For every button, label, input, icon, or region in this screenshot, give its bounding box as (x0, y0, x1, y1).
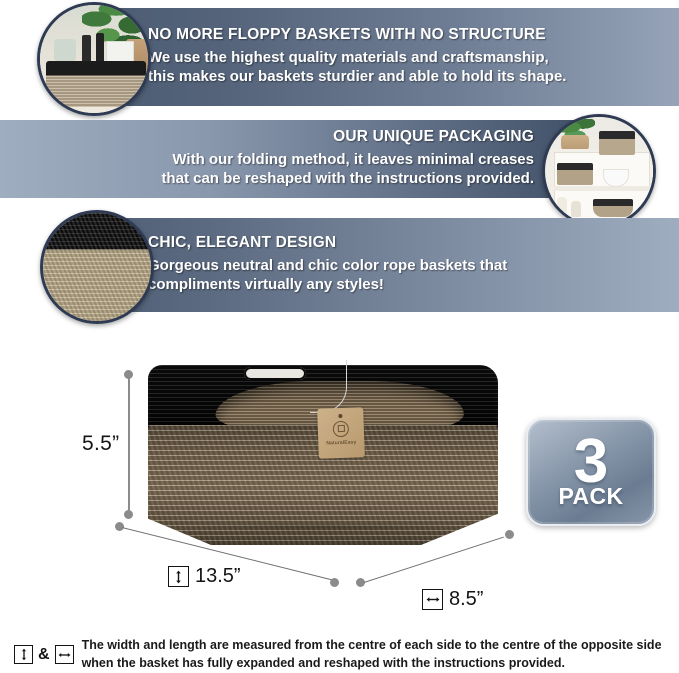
banner-body-line-2: this makes our baskets sturdier and able… (148, 68, 669, 87)
hang-tag: NaturalEasy (317, 407, 365, 459)
basket-ground-shadow (148, 525, 498, 547)
banner-title: OUR UNIQUE PACKAGING (333, 128, 534, 146)
height-guide-line (128, 376, 130, 514)
width-guide-dot-end (505, 530, 514, 539)
banner-body: With our folding method, it leaves minim… (161, 151, 534, 189)
length-dimension-chip: 13.5” (168, 565, 241, 588)
disclaimer-text: The width and length are measured from t… (82, 637, 662, 672)
disclaimer-icon-group: & (14, 645, 74, 664)
banner-body: We use the highest quality materials and… (148, 49, 669, 87)
feature-banner-no-structure: NO MORE FLOPPY BASKETS WITH NO STRUCTURE… (88, 8, 679, 106)
vase-shape-a (557, 197, 567, 217)
hang-tag-hole (338, 414, 342, 418)
banner-title: NO MORE FLOPPY BASKETS WITH NO STRUCTURE (148, 26, 669, 44)
vertical-arrow-icon (168, 566, 189, 587)
banner-body-line-2: that can be reshaped with the instructio… (161, 170, 534, 189)
feature-banner-chic-design: CHIC, ELEGANT DESIGN Gorgeous neutral an… (88, 218, 679, 312)
height-dimension-label: 5.5” (82, 432, 119, 456)
pack-count-badge: 3 PACK (526, 418, 656, 526)
width-dimension-value: 8.5” (449, 588, 483, 611)
banner-body-line-1: Gorgeous neutral and chic color rope bas… (148, 257, 669, 276)
basket-shape-bottom (593, 199, 633, 217)
width-dimension-chip: 8.5” (422, 588, 483, 611)
banner-title: CHIC, ELEGANT DESIGN (148, 234, 669, 252)
banner-body-line-1: With our folding method, it leaves minim… (161, 151, 534, 170)
feature-photo-styled-basket (37, 2, 151, 116)
feature-banner-unique-packaging: OUR UNIQUE PACKAGING With our folding me… (0, 120, 592, 198)
photo-scene-counter (40, 5, 148, 113)
jar-shape (54, 39, 76, 61)
banner-body-line-2: compliments virtually any styles! (148, 276, 669, 295)
basket-handle-left (244, 367, 306, 380)
banner-body-line-1: We use the highest quality materials and… (148, 49, 669, 68)
measurement-disclaimer: & The width and length are measured from… (0, 636, 679, 673)
photo-scene-rope-closeup (43, 213, 151, 321)
basket-shape-top (599, 131, 635, 155)
length-guide-dot-end (330, 578, 339, 587)
brand-logo-icon (333, 420, 350, 437)
vase-shape-b (571, 201, 581, 217)
horizontal-arrow-icon (422, 589, 443, 610)
basket-shape-middle (557, 163, 593, 185)
disclaimer-line-1: The width and length are measured from t… (82, 637, 662, 654)
pack-count-label: PACK (558, 485, 623, 508)
basket-shape (46, 61, 146, 107)
photo-scene-shelf (545, 117, 653, 225)
feature-photo-rope-texture (40, 210, 154, 324)
hang-tag-brand: NaturalEasy (326, 439, 356, 446)
length-dimension-value: 13.5” (195, 565, 241, 588)
horizontal-arrow-icon (55, 645, 74, 664)
feature-photo-shelf-styling (542, 114, 656, 228)
ampersand-symbol: & (38, 646, 50, 664)
disclaimer-line-2: when the basket has fully expanded and r… (82, 655, 662, 672)
pack-count-number: 3 (574, 436, 608, 488)
banner-body: Gorgeous neutral and chic color rope bas… (148, 257, 669, 295)
vertical-arrow-icon (14, 645, 33, 664)
height-guide-dot-bottom (124, 510, 133, 519)
